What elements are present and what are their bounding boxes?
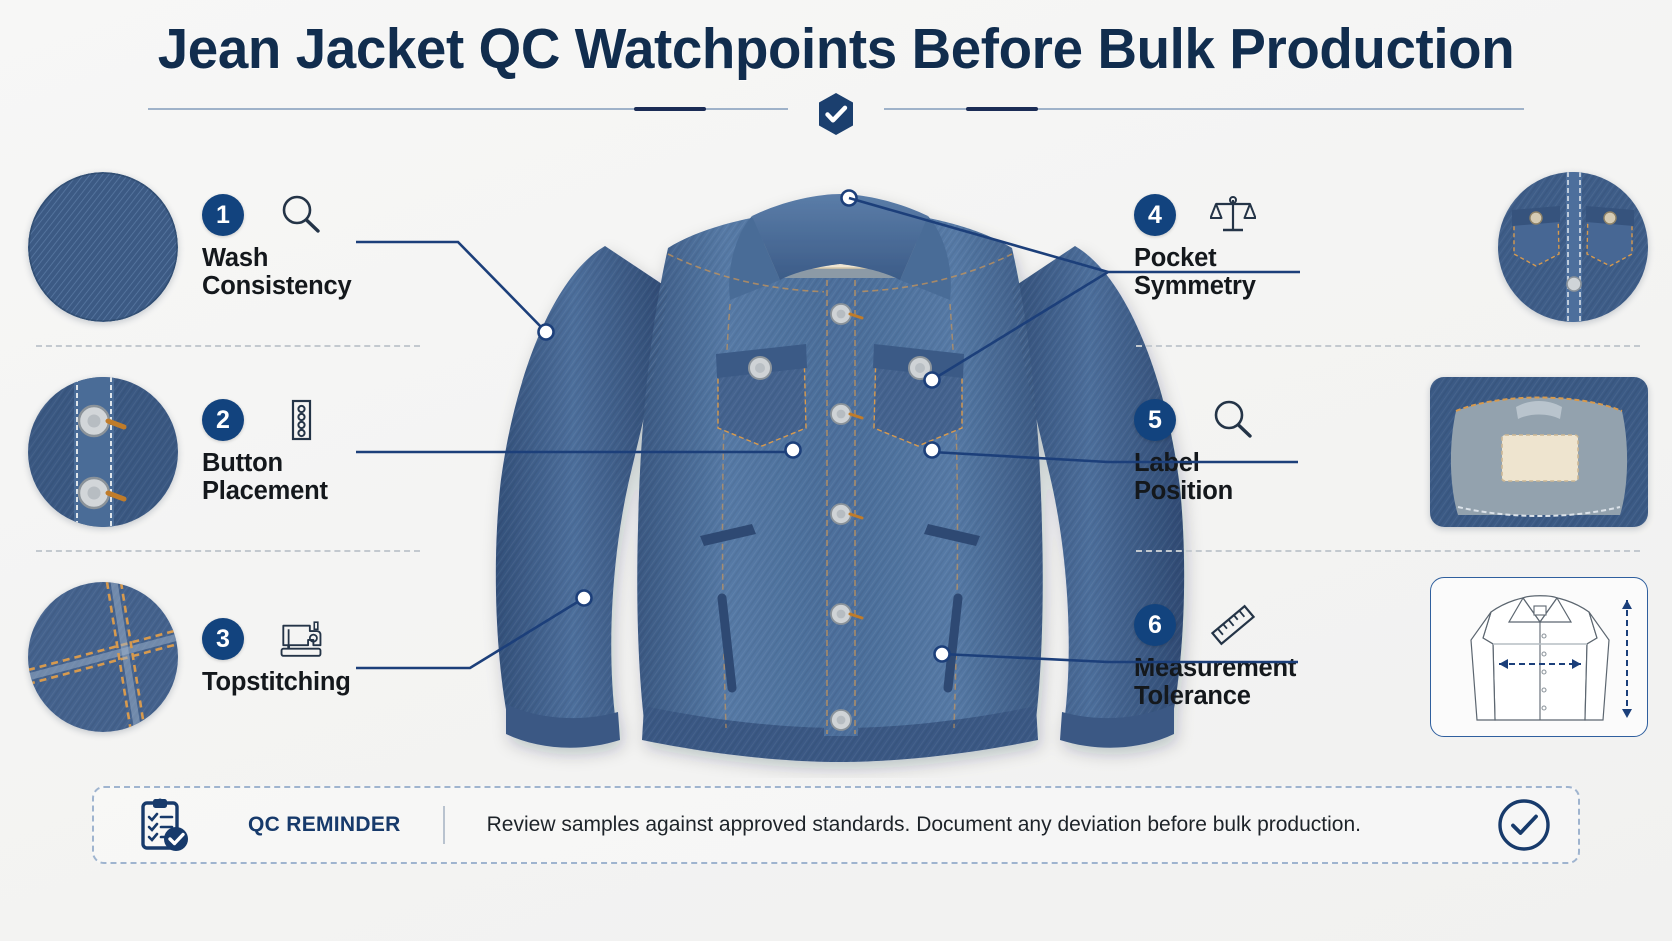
topstitch-seam-circle bbox=[28, 582, 178, 732]
watchpoint-1-text: 1 Wash Consistency bbox=[178, 192, 428, 300]
balance-scale-icon bbox=[1210, 192, 1256, 238]
denim-swatch-circle bbox=[28, 172, 178, 322]
watchpoint-4-label-line2: Symmetry bbox=[1134, 272, 1256, 300]
watchpoint-1-number: 1 bbox=[202, 194, 244, 236]
watchpoint-2-text: 2 Button Placement bbox=[178, 397, 428, 505]
watchpoint-5-number: 5 bbox=[1134, 399, 1176, 441]
watchpoint-item-3[interactable]: 3 Topstitching bbox=[28, 550, 428, 755]
watchpoint-item-6[interactable]: 6 Measurement Tolerance bbox=[1128, 550, 1648, 755]
watchpoint-2-number: 2 bbox=[202, 399, 244, 441]
qc-reminder-bar: QC REMINDER Review samples against appro… bbox=[92, 786, 1580, 864]
watchpoint-4-text: 4 Pocket Symmetry bbox=[1128, 192, 1498, 300]
page-title: Jean Jacket QC Watchpoints Before Bulk P… bbox=[33, 16, 1638, 82]
row-separator bbox=[36, 550, 420, 552]
clipboard-checklist-icon bbox=[136, 797, 192, 853]
footer-divider bbox=[443, 806, 445, 844]
divider-accent-right bbox=[966, 107, 1038, 111]
button-placket-icon bbox=[278, 397, 324, 443]
watchpoint-4-number: 4 bbox=[1134, 194, 1176, 236]
magnifier-icon bbox=[1210, 397, 1256, 443]
watchpoints-right-column: 4 Pocket Symmetry bbox=[1128, 140, 1648, 755]
watchpoint-5-label-line1: Label bbox=[1134, 449, 1200, 477]
watchpoint-3-label-line1: Topstitching bbox=[202, 668, 351, 696]
watchpoint-5-text: 5 Label Position bbox=[1128, 397, 1430, 505]
watchpoint-2-label-line1: Button bbox=[202, 449, 283, 477]
watchpoints-left-column: 1 Wash Consistency bbox=[28, 140, 428, 755]
header: Jean Jacket QC Watchpoints Before Bulk P… bbox=[0, 0, 1672, 130]
watchpoint-item-2[interactable]: 2 Button Placement bbox=[28, 345, 428, 550]
qc-reminder-kicker: QC REMINDER bbox=[248, 813, 401, 837]
watchpoint-6-text: 6 Measurement Tolerance bbox=[1128, 602, 1430, 710]
watchpoint-1-label-line2: Consistency bbox=[202, 272, 351, 300]
chest-pockets-circle bbox=[1498, 172, 1648, 322]
watchpoint-6-number: 6 bbox=[1134, 604, 1176, 646]
magnifier-icon bbox=[278, 192, 324, 238]
row-separator bbox=[36, 345, 420, 347]
watchpoint-item-1[interactable]: 1 Wash Consistency bbox=[28, 140, 428, 345]
watchpoint-3-number: 3 bbox=[202, 618, 244, 660]
watchpoint-item-5[interactable]: 5 Label Position bbox=[1128, 345, 1648, 550]
sewing-machine-icon bbox=[278, 616, 324, 662]
watchpoint-4-label-line1: Pocket bbox=[1134, 244, 1216, 272]
header-divider bbox=[148, 92, 1524, 128]
watchpoint-6-label-line1: Measurement bbox=[1134, 654, 1296, 682]
divider-accent-left bbox=[634, 107, 706, 111]
watchpoint-2-label-line2: Placement bbox=[202, 477, 328, 505]
row-separator bbox=[1136, 550, 1640, 552]
check-circle-icon bbox=[1496, 797, 1552, 853]
inner-neck-label-photo bbox=[1430, 377, 1648, 527]
watchpoint-3-text: 3 Topstitching bbox=[178, 616, 428, 697]
watchpoint-item-4[interactable]: 4 Pocket Symmetry bbox=[1128, 140, 1648, 345]
technical-flat-sketch bbox=[1430, 577, 1648, 737]
button-placket-circle bbox=[28, 377, 178, 527]
ruler-icon bbox=[1210, 602, 1256, 648]
qc-reminder-text: Review samples against approved standard… bbox=[487, 813, 1361, 837]
row-separator bbox=[1136, 345, 1640, 347]
watchpoint-5-label-line2: Position bbox=[1134, 477, 1233, 505]
watchpoint-6-label-line2: Tolerance bbox=[1134, 682, 1251, 710]
watchpoint-1-label-line1: Wash bbox=[202, 244, 268, 272]
